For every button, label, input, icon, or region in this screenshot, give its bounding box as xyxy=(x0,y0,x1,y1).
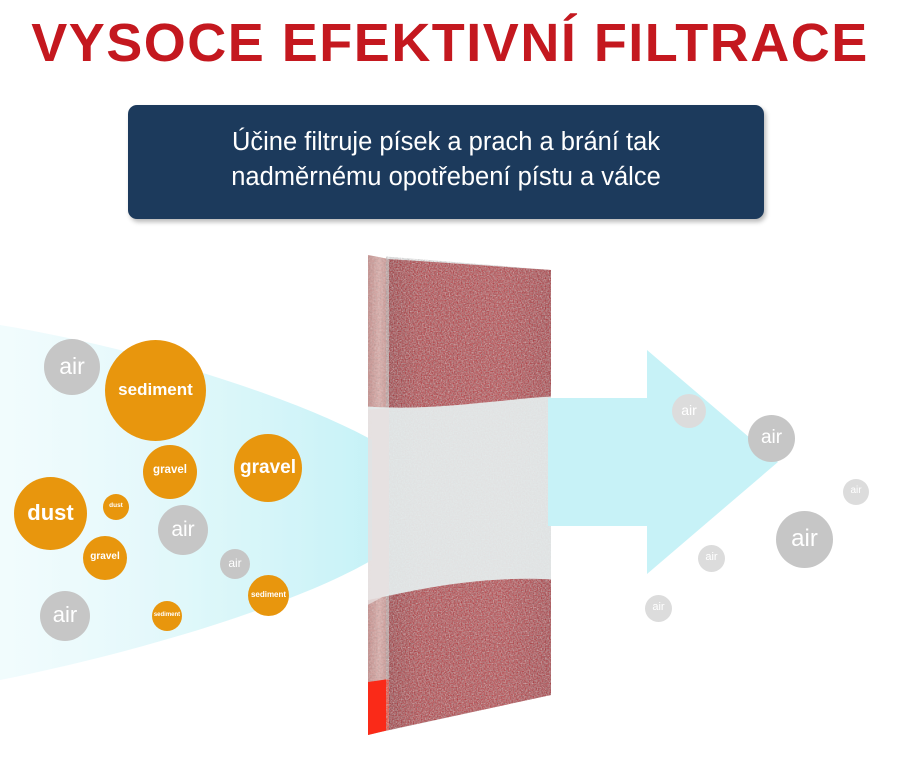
infographic-canvas: VYSOCE EFEKTIVNÍ FILTRACE Účine filtruje… xyxy=(0,0,900,768)
bubble-clean-air-4: air xyxy=(698,545,725,572)
bubble-clean-air-1: air xyxy=(748,415,795,462)
bubble-label: dust xyxy=(27,502,73,524)
bubble-label: air xyxy=(681,403,697,417)
bubble-dirty-air-0: air xyxy=(44,339,100,395)
bubble-dirty-gravel-2: gravel xyxy=(143,445,197,499)
bubble-label: air xyxy=(228,557,241,569)
bubble-label: air xyxy=(791,527,818,551)
bubble-label: sediment xyxy=(251,591,286,599)
bubble-dirty-sediment-11: sediment xyxy=(152,601,182,631)
bubble-dirty-air-8: air xyxy=(220,549,250,579)
bubble-label: air xyxy=(53,604,77,626)
bubble-dirty-sediment-1: sediment xyxy=(105,340,206,441)
bubble-label: air xyxy=(850,486,861,496)
bubble-label: air xyxy=(705,552,717,563)
bubble-label: sediment xyxy=(154,612,180,618)
bubble-label: air xyxy=(761,428,782,447)
bubble-label: sediment xyxy=(118,381,193,398)
bubble-label: gravel xyxy=(153,465,187,477)
bubble-label: gravel xyxy=(90,552,119,562)
bubble-dirty-dust-4: dust xyxy=(14,477,87,550)
bubble-clean-air-0: air xyxy=(672,394,706,428)
bubble-clean-air-3: air xyxy=(776,511,833,568)
bubble-label: air xyxy=(59,355,85,378)
bubble-dirty-gravel-7: gravel xyxy=(83,536,127,580)
bubble-label: air xyxy=(652,602,664,613)
bubble-dirty-sediment-9: sediment xyxy=(248,575,289,616)
bubble-dirty-gravel-3: gravel xyxy=(234,434,302,502)
bubble-layer: airsedimentgravelgraveldustdustairgravel… xyxy=(0,0,900,768)
bubble-label: dust xyxy=(109,503,123,510)
bubble-dirty-air-10: air xyxy=(40,591,90,641)
bubble-clean-air-2: air xyxy=(843,479,869,505)
bubble-clean-air-5: air xyxy=(645,595,672,622)
bubble-dirty-air-6: air xyxy=(158,505,208,555)
bubble-dirty-dust-5: dust xyxy=(103,494,129,520)
bubble-label: gravel xyxy=(240,458,296,477)
bubble-label: air xyxy=(171,519,194,540)
